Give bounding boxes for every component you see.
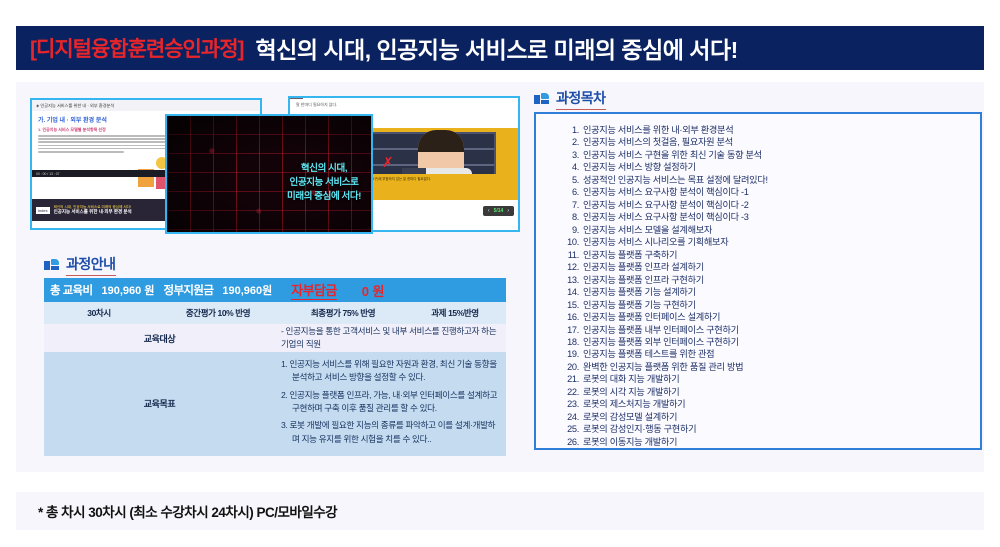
- curriculum-item: 16.인공지능 플랫폼 인터페이스 설계하기: [562, 311, 972, 323]
- curriculum-item-number: 7.: [562, 199, 579, 211]
- curriculum-item-label: 로봇의 제스처지능 개발하기: [583, 399, 685, 409]
- curriculum-item: 18.인공지능 플랫폼 외부 인터페이스 구현하기: [562, 336, 972, 348]
- curriculum-item-label: 인공지능 서비스 요구사항 분석이 핵심이다 -1: [583, 187, 749, 197]
- curriculum-item-label: 인공지능 서비스를 위한 내·외부 환경분석: [583, 125, 733, 135]
- slide-footer-main: 인공지능 서비스를 위한 내·외부 환경 분석: [54, 209, 132, 214]
- simulation-select-tooltip[interactable]: 시뮬레이션 선택: [288, 96, 303, 99]
- objective-item: 1. 인공지능 서비스를 위해 필요한 자원과 환경, 최신 기술 동향을 분석…: [281, 358, 500, 385]
- curriculum-item-number: 15.: [562, 299, 579, 311]
- curriculum-item-label: 인공지능 플랫폼 인터페이스 설계하기: [583, 312, 720, 322]
- cross-mark-icon: ✗: [382, 154, 394, 171]
- curriculum-item-number: 12.: [562, 261, 579, 273]
- fee-row: 총 교육비 190,960 원 정부지원금 190,960원 자부담금 0 원: [44, 278, 506, 302]
- page-indicator: 5/14: [494, 208, 504, 214]
- curriculum-item: 10.인공지능 서비스 시나리오를 기획해보자: [562, 236, 972, 248]
- slogan-text: 혁신의 시대, 인공지능 서비스로 미래의 중심에 서다!: [287, 162, 361, 203]
- curriculum-item-number: 14.: [562, 286, 579, 298]
- curriculum-item: 7.인공지능 서비스 요구사항 분석이 핵심이다 -2: [562, 199, 972, 211]
- gov-support-value: 190,960원: [222, 282, 272, 298]
- curriculum-item-label: 인공지능 플랫폼 기능 설계하기: [583, 287, 696, 297]
- curriculum-item-number: 1.: [562, 124, 579, 136]
- book-icon: [44, 259, 59, 272]
- curriculum-item-label: 인공지능 플랫폼 기능 구현하기: [583, 300, 696, 310]
- presenter-hair: [418, 130, 464, 152]
- course-type-tag: [디지털융합훈련승인과정]: [30, 33, 244, 63]
- slogan-line-1: 혁신의 시대,: [287, 162, 361, 176]
- curriculum-item: 23.로봇의 제스처지능 개발하기: [562, 398, 972, 410]
- curriculum-item-number: 18.: [562, 336, 579, 348]
- self-payment-value: 0 원: [362, 281, 385, 300]
- curriculum-item-number: 13.: [562, 274, 579, 286]
- curriculum-item-number: 22.: [562, 386, 579, 398]
- footer-note-text: * 총 차시 30차시 (최소 수강차시 24차시) PC/모바일수강: [38, 501, 337, 521]
- curriculum-item-label: 인공지능 서비스 요구사항 분석이 핵심이다 -2: [583, 200, 749, 210]
- objective-list: 1. 인공지능 서비스를 위해 필요한 자원과 환경, 최신 기술 동향을 분석…: [281, 358, 500, 446]
- curriculum-item: 2.인공지능 서비스의 첫걸음, 필요자원 분석: [562, 136, 972, 148]
- list-icon: [534, 93, 549, 106]
- curriculum-item-number: 24.: [562, 411, 579, 423]
- curriculum-item-number: 16.: [562, 311, 579, 323]
- curriculum-item-number: 17.: [562, 324, 579, 336]
- curriculum-item: 25.로봇의 감성인지·행동 구현하기: [562, 423, 972, 435]
- objective-item: 2. 인공지능 플랫폼 인프라, 가능, 내·외부 인터페이스를 설계하고 구현…: [281, 389, 500, 416]
- prev-page-icon[interactable]: ‹: [488, 208, 490, 214]
- objective-value: 1. 인공지능 서비스를 위해 필요한 자원과 환경, 최신 기술 동향을 분석…: [275, 352, 506, 456]
- title-banner: [디지털융합훈련승인과정] 혁신의 시대, 인공지능 서비스로 미래의 중심에 …: [16, 26, 984, 70]
- curriculum-item: 4.인공지능 서비스 방향 설정하기: [562, 161, 972, 173]
- curriculum-item-label: 성공적인 인공지능 서비스는 목표 설정에 달려있다!: [583, 175, 768, 185]
- curriculum-item: 22.로봇의 시각 지능 개발하기: [562, 386, 972, 398]
- video-slide-caption: 말 한마디 필요하지 않다.: [296, 102, 512, 108]
- preview-thumbnail-group: ◈ 인공지능 서비스를 위한 내 · 외부 환경분석 가. 기업 내 · 외부 …: [30, 92, 522, 240]
- curriculum-item-label: 로봇의 감성인지·행동 구현하기: [583, 424, 696, 434]
- curriculum-item-number: 8.: [562, 211, 579, 223]
- curriculum-item-label: 인공지능 서비스 구현을 위한 최신 기술 동향 분석: [583, 150, 762, 160]
- curriculum-item: 3.인공지능 서비스 구현을 위한 최신 기술 동향 분석: [562, 149, 972, 161]
- curriculum-item-number: 20.: [562, 361, 579, 373]
- curriculum-item: 15.인공지능 플랫폼 기능 구현하기: [562, 299, 972, 311]
- video-time: 00 : 00 / 13 : 07: [36, 172, 60, 176]
- evaluation-item-1: 중간평가 10% 반영: [154, 307, 282, 319]
- page-title: 혁신의 시대, 인공지능 서비스로 미래의 중심에 서다!: [256, 31, 738, 65]
- curriculum-item-label: 완벽한 인공지능 플랫폼 위한 품질 관리 방법: [583, 362, 743, 372]
- curriculum-item-number: 3.: [562, 149, 579, 161]
- curriculum-list-box: 1.인공지능 서비스를 위한 내·외부 환경분석2.인공지능 서비스의 첫걸음,…: [534, 112, 982, 450]
- curriculum-section-header: 과정목차: [534, 88, 606, 110]
- curriculum-item-number: 4.: [562, 161, 579, 173]
- curriculum-item-label: 인공지능 플랫폼 구축하기: [583, 250, 677, 260]
- curriculum-item-number: 9.: [562, 224, 579, 236]
- curriculum-item: 6.인공지능 서비스 요구사항 분석이 핵심이다 -1: [562, 186, 972, 198]
- total-fee-value: 190,960 원: [102, 282, 155, 298]
- curriculum-item-label: 로봇의 시각 지능 개발하기: [583, 387, 679, 397]
- curriculum-item: 26.로봇의 이동지능 개발하기: [562, 436, 972, 448]
- curriculum-item-label: 인공지능 플랫폼 인프라 설계하기: [583, 262, 704, 272]
- curriculum-item-number: 2.: [562, 136, 579, 148]
- curriculum-item-label: 인공지능 서비스 방향 설정하기: [583, 162, 696, 172]
- curriculum-item-number: 26.: [562, 436, 579, 448]
- total-fee-label: 총 교육비: [50, 282, 93, 298]
- evaluation-item-2: 최종평가 75% 반영: [282, 307, 404, 319]
- curriculum-item-label: 인공지능 플랫폼 내부 인터페이스 구현하기: [583, 325, 739, 335]
- curriculum-item: 14.인공지능 플랫폼 기능 설계하기: [562, 286, 972, 298]
- curriculum-item-number: 11.: [562, 249, 579, 261]
- curriculum-item-label: 인공지능 플랫폼 테스트를 위한 관점: [583, 349, 714, 359]
- curriculum-item: 17.인공지능 플랫폼 내부 인터페이스 구현하기: [562, 324, 972, 336]
- brand-badge: index: [36, 207, 50, 214]
- curriculum-item: 20.완벽한 인공지능 플랫폼 위한 품질 관리 방법: [562, 361, 972, 373]
- guide-section-header: 과정안내: [44, 254, 116, 276]
- curriculum-item: 24.로봇의 감성모델 설계하기: [562, 411, 972, 423]
- content-panel: ◈ 인공지능 서비스를 위한 내 · 외부 환경분석 가. 기업 내 · 외부 …: [16, 82, 984, 472]
- curriculum-item-number: 19.: [562, 348, 579, 360]
- curriculum-item-label: 로봇의 대화 지능 개발하기: [583, 374, 679, 384]
- curriculum-item-number: 6.: [562, 186, 579, 198]
- curriculum-item-label: 인공지능 서비스 시나리오를 기획해보자: [583, 237, 728, 247]
- gov-support-label: 정부지원금: [163, 282, 213, 298]
- slogan-line-3: 미래의 중심에 서다!: [287, 190, 361, 204]
- curriculum-item: 19.인공지능 플랫폼 테스트를 위한 관점: [562, 348, 972, 360]
- curriculum-item: 9.인공지능 서비스 모델을 설계해보자: [562, 224, 972, 236]
- curriculum-item-label: 인공지능 플랫폼 외부 인터페이스 구현하기: [583, 337, 739, 347]
- evaluation-item-3: 과제 15%반영: [404, 307, 506, 319]
- curriculum-item-label: 인공지능 서비스의 첫걸음, 필요자원 분석: [583, 137, 733, 147]
- curriculum-item: 1.인공지능 서비스를 위한 내·외부 환경분석: [562, 124, 972, 136]
- curriculum-item-number: 21.: [562, 373, 579, 385]
- curriculum-item-label: 인공지능 서비스 요구사항 분석이 핵심이다 -3: [583, 212, 749, 222]
- curriculum-item-number: 27.: [562, 448, 579, 450]
- footer-note: * 총 차시 30차시 (최소 수강차시 24차시) PC/모바일수강: [16, 492, 984, 530]
- guide-heading-label: 과정안내: [66, 254, 116, 276]
- curriculum-item: 11.인공지능 플랫폼 구축하기: [562, 249, 972, 261]
- self-payment-label: 자부담금: [291, 280, 336, 300]
- curriculum-item: 27.로봇의 작업지능 개발하기: [562, 448, 972, 450]
- slogan-line-2: 인공지능 서비스로: [287, 176, 361, 190]
- curriculum-item: 13.인공지능 플랫폼 인프라 구현하기: [562, 274, 972, 286]
- curriculum-item-number: 23.: [562, 398, 579, 410]
- objective-row: 교육목표 1. 인공지능 서비스를 위해 필요한 자원과 환경, 최신 기술 동…: [44, 352, 506, 456]
- target-row: 교육대상 - 인공지능을 통한 고객서비스 및 내부 서비스를 진행하고자 하는…: [44, 324, 506, 352]
- objective-label: 교육목표: [44, 352, 275, 456]
- curriculum-item-label: 로봇의 이동지능 개발하기: [583, 437, 677, 447]
- curriculum-item-label: 로봇의 감성모델 설계하기: [583, 412, 677, 422]
- next-page-icon[interactable]: ›: [507, 208, 509, 214]
- curriculum-item: 12.인공지능 플랫폼 인프라 설계하기: [562, 261, 972, 273]
- curriculum-heading-label: 과정목차: [556, 88, 606, 110]
- objective-item: 3. 로봇 개발에 필요한 지능의 종류를 파악하고 이를 설계·개발하며 지능…: [281, 419, 500, 446]
- curriculum-item-label: 인공지능 서비스 모델을 설계해보자: [583, 225, 712, 235]
- curriculum-item: 8.인공지능 서비스 요구사항 분석이 핵심이다 -3: [562, 211, 972, 223]
- curriculum-item-number: 25.: [562, 423, 579, 435]
- slide-footer-text: 혁신의 시대, 인공지능 서비스로 미래의 중심에 서다! 인공지능 서비스를 …: [54, 205, 132, 215]
- curriculum-item-label: 로봇의 작업지능 개발하기: [583, 449, 677, 450]
- curriculum-item-number: 10.: [562, 236, 579, 248]
- curriculum-item-number: 5.: [562, 174, 579, 186]
- preview-thumbnail-intro-slogan[interactable]: 혁신의 시대, 인공지능 서비스로 미래의 중심에 서다!: [165, 114, 373, 234]
- slide-header-bar: ◈ 인공지능 서비스를 위한 내 · 외부 환경분석: [32, 100, 260, 111]
- curriculum-item-label: 인공지능 플랫폼 인프라 구현하기: [583, 275, 704, 285]
- evaluation-item-0: 30차시: [44, 307, 154, 319]
- evaluation-row: 30차시 중간평가 10% 반영 최종평가 75% 반영 과제 15%반영: [44, 302, 506, 324]
- curriculum-item: 5.성공적인 인공지능 서비스는 목표 설정에 달려있다!: [562, 174, 972, 186]
- target-label: 교육대상: [44, 324, 275, 352]
- curriculum-item: 21.로봇의 대화 지능 개발하기: [562, 373, 972, 385]
- target-value: - 인공지능을 통한 고객서비스 및 내부 서비스를 진행하고자 하는 기업의 …: [275, 324, 506, 352]
- curriculum-list: 1.인공지능 서비스를 위한 내·외부 환경분석2.인공지능 서비스의 첫걸음,…: [562, 124, 972, 450]
- course-info-table: 총 교육비 190,960 원 정부지원금 190,960원 자부담금 0 원 …: [44, 278, 506, 456]
- page-navigation-control[interactable]: ‹ 5/14 ›: [483, 206, 514, 216]
- course-promo-page: [디지털융합훈련승인과정] 혁신의 시대, 인공지능 서비스로 미래의 중심에 …: [0, 0, 1000, 547]
